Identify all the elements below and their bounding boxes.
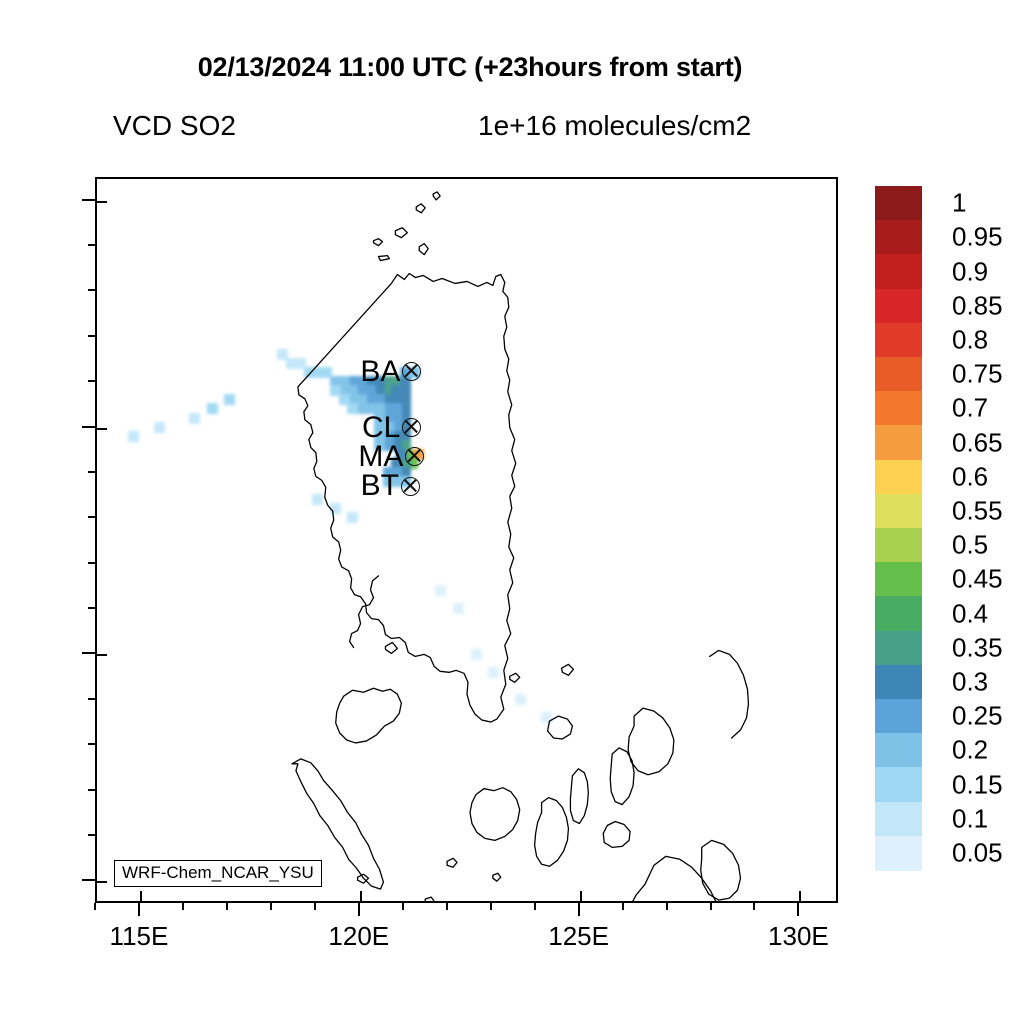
station-label: MA	[358, 442, 403, 472]
colorbar-swatch	[875, 528, 922, 563]
x-tick	[753, 903, 755, 910]
colorbar-tick-label: 0.9	[952, 256, 988, 287]
colorbar-swatch	[875, 562, 922, 597]
colorbar-tick-label: 0.6	[952, 461, 988, 492]
y-tick	[82, 879, 95, 881]
x-tick-inner	[580, 891, 582, 901]
x-axis-label: 130E	[768, 921, 829, 952]
x-tick	[402, 903, 404, 910]
colorbar-swatch	[875, 767, 922, 802]
x-tick	[534, 903, 536, 910]
coastline-layer	[97, 179, 836, 901]
y-tick	[82, 199, 95, 201]
colorbar-tick-label: 0.4	[952, 598, 988, 629]
y-tick-inner	[97, 654, 107, 656]
x-tick	[797, 903, 799, 916]
colorbar-tick-label: 0.85	[952, 290, 1003, 321]
y-tick	[88, 516, 95, 518]
colorbar-swatch	[875, 220, 922, 255]
y-tick-inner	[97, 201, 107, 203]
circle-x-icon	[405, 447, 424, 466]
colorbar-swatch	[875, 254, 922, 289]
colorbar-swatch	[875, 323, 922, 358]
circle-x-icon	[402, 418, 421, 437]
x-tick	[446, 903, 448, 910]
y-tick	[88, 471, 95, 473]
colorbar-swatch	[875, 802, 922, 837]
x-tick	[358, 903, 360, 916]
y-tick	[88, 380, 95, 382]
colorbar-tick-label: 0.65	[952, 427, 1003, 458]
model-legend-box: WRF-Chem_NCAR_YSU	[114, 860, 322, 887]
x-axis-label: 115E	[110, 921, 169, 952]
y-tick-inner	[97, 428, 107, 430]
y-tick	[88, 335, 95, 337]
colorbar	[875, 186, 922, 870]
colorbar-swatch	[875, 836, 922, 871]
colorbar-swatch	[875, 494, 922, 529]
chart-title: 02/13/2024 11:00 UTC (+23hours from star…	[0, 52, 940, 83]
station-label: CL	[362, 413, 400, 443]
colorbar-tick-label: 0.95	[952, 222, 1003, 253]
colorbar-swatch	[875, 391, 922, 426]
colorbar-swatch	[875, 596, 922, 631]
colorbar-swatch	[875, 460, 922, 495]
colorbar-tick-label: 1	[952, 188, 966, 219]
y-tick	[88, 743, 95, 745]
y-tick-inner	[97, 881, 107, 883]
colorbar-tick-label: 0.7	[952, 393, 988, 424]
colorbar-swatch	[875, 186, 922, 221]
x-tick	[138, 903, 140, 916]
x-tick	[226, 903, 228, 910]
x-tick	[314, 903, 316, 910]
x-tick	[94, 903, 96, 910]
x-tick	[622, 903, 624, 910]
colorbar-tick-label: 0.35	[952, 632, 1003, 663]
colorbar-tick-label: 0.55	[952, 495, 1003, 526]
variable-label: VCD SO2	[113, 110, 236, 142]
y-tick	[88, 244, 95, 246]
colorbar-swatch	[875, 665, 922, 700]
colorbar-tick-label: 0.15	[952, 769, 1003, 800]
x-tick	[666, 903, 668, 910]
station-label: BA	[360, 357, 400, 387]
units-label: 1e+16 molecules/cm2	[478, 110, 751, 142]
colorbar-tick-label: 0.45	[952, 564, 1003, 595]
x-tick	[182, 903, 184, 910]
colorbar-swatch	[875, 357, 922, 392]
x-tick-inner	[799, 891, 801, 901]
circle-x-icon	[401, 477, 420, 496]
colorbar-swatch	[875, 699, 922, 734]
x-tick-inner	[360, 891, 362, 901]
colorbar-tick-label: 0.8	[952, 324, 988, 355]
colorbar-tick-label: 0.5	[952, 530, 988, 561]
x-tick-inner	[140, 891, 142, 901]
y-tick	[88, 562, 95, 564]
y-tick	[88, 698, 95, 700]
y-tick	[82, 652, 95, 654]
colorbar-swatch	[875, 425, 922, 460]
x-tick	[490, 903, 492, 910]
colorbar-tick-label: 0.1	[952, 803, 988, 834]
x-axis-label: 125E	[548, 921, 609, 952]
x-tick	[578, 903, 580, 916]
map-plot-area: WRF-Chem_NCAR_YSU BACLMABT	[95, 177, 838, 903]
y-tick	[88, 834, 95, 836]
x-axis-label: 120E	[328, 921, 389, 952]
colorbar-tick-label: 0.3	[952, 666, 988, 697]
colorbar-tick-label: 0.05	[952, 837, 1003, 868]
x-tick	[270, 903, 272, 910]
colorbar-tick-label: 0.2	[952, 735, 988, 766]
colorbar-tick-label: 0.25	[952, 701, 1003, 732]
x-tick	[710, 903, 712, 910]
y-tick	[88, 607, 95, 609]
y-tick	[88, 789, 95, 791]
colorbar-swatch	[875, 733, 922, 768]
y-tick	[82, 426, 95, 428]
colorbar-swatch	[875, 289, 922, 324]
y-tick	[88, 289, 95, 291]
station-label: BT	[361, 471, 399, 501]
colorbar-swatch	[875, 631, 922, 666]
colorbar-tick-label: 0.75	[952, 359, 1003, 390]
